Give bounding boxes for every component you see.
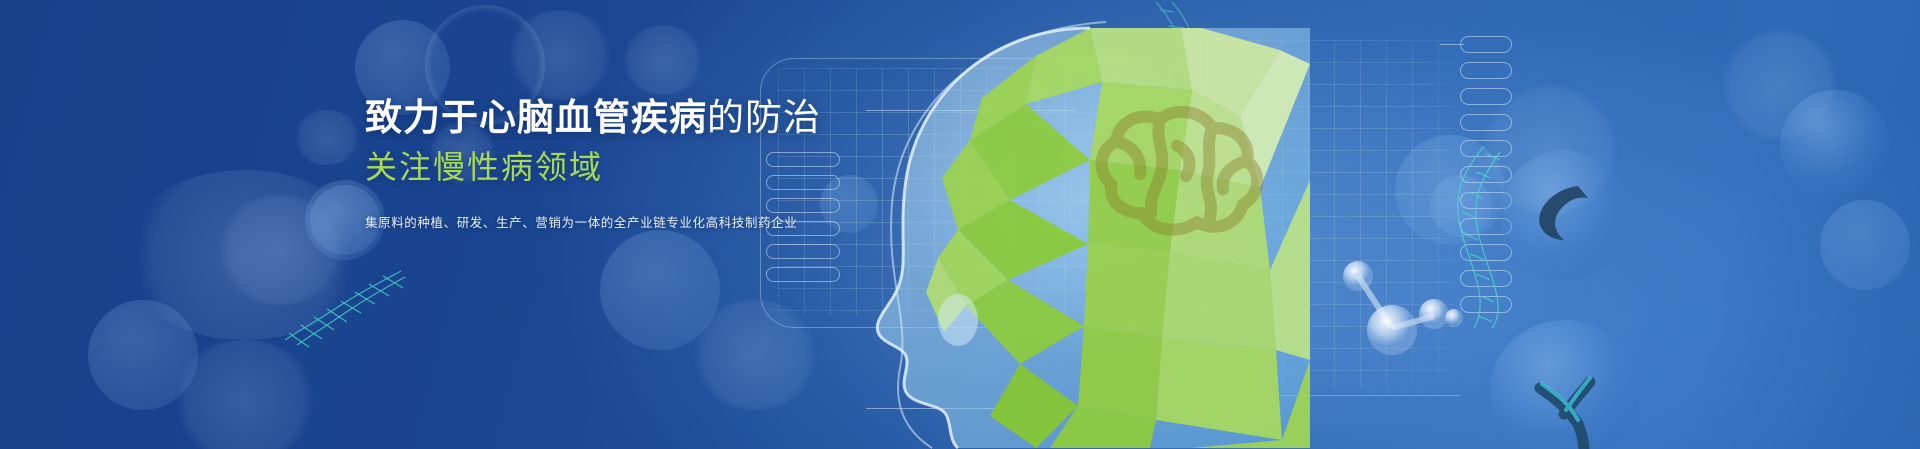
dna-helix-icon [275,255,410,350]
bokeh-circle [1820,200,1910,290]
banner-description: 集原料的种植、研发、生产、营销为一体的全产业链专业化高科技制药企业 [365,212,785,231]
bokeh-circle [505,10,615,100]
bokeh-circle [292,110,362,165]
hud-pill [1460,114,1512,131]
low-poly-head-graphic [840,20,1340,449]
hud-pill [766,267,840,282]
hud-lead-line-right [1440,44,1464,45]
bacteria-icon [1520,352,1620,449]
headline-tail: 的防治 [707,97,821,138]
hud-pill [766,244,840,259]
bokeh-circle [88,300,198,410]
banner-headline: 致力于心脑血管疾病的防治 [365,96,785,140]
banner-subline: 关注慢性病领域 [365,148,785,186]
cell-blob [1780,90,1890,200]
bokeh-circle [620,25,705,95]
hud-pill [1460,36,1512,53]
bokeh-circle [600,230,720,350]
banner-copy: 致力于心脑血管疾病的防治 关注慢性病领域 集原料的种植、研发、生产、营销为一体的… [365,96,785,231]
hud-pill [1460,88,1512,105]
bacteria-icon [1526,180,1606,252]
hero-banner: 致力于心脑血管疾病的防治 关注慢性病领域 集原料的种植、研发、生产、营销为一体的… [0,0,1920,449]
headline-emphasis: 心脑血管疾病 [479,97,707,138]
headline-strong: 致力于 [365,97,479,138]
brain-icon [1055,80,1295,255]
dna-helix-icon [1400,140,1510,330]
bokeh-circle [170,340,320,449]
hud-pill [1460,62,1512,79]
